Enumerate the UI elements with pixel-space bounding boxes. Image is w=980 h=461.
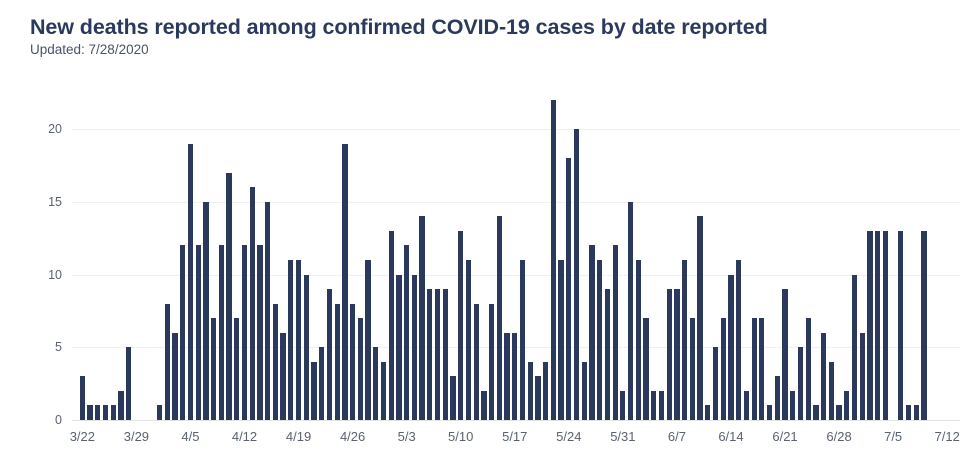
- bar[interactable]: [883, 231, 888, 420]
- bar[interactable]: [690, 318, 695, 420]
- bar[interactable]: [736, 260, 741, 420]
- bar[interactable]: [744, 391, 749, 420]
- bar[interactable]: [443, 289, 448, 420]
- x-axis-tick-label: 7/12: [935, 428, 960, 446]
- bar[interactable]: [304, 275, 309, 421]
- bar[interactable]: [481, 391, 486, 420]
- bar[interactable]: [165, 304, 170, 420]
- bar[interactable]: [512, 333, 517, 420]
- bar[interactable]: [613, 245, 618, 420]
- bar[interactable]: [528, 362, 533, 420]
- bar[interactable]: [396, 275, 401, 421]
- bar[interactable]: [589, 245, 594, 420]
- chart-page: New deaths reported among confirmed COVI…: [0, 0, 980, 461]
- bar[interactable]: [713, 347, 718, 420]
- bar[interactable]: [697, 216, 702, 420]
- bar[interactable]: [273, 304, 278, 420]
- x-axis-tick-label: 7/5: [884, 428, 902, 446]
- y-axis-tick-label: 10: [48, 269, 62, 281]
- bar[interactable]: [813, 405, 818, 420]
- bar[interactable]: [435, 289, 440, 420]
- bar[interactable]: [497, 216, 502, 420]
- x-axis-tick-label: 5/3: [398, 428, 416, 446]
- bar[interactable]: [790, 391, 795, 420]
- bar[interactable]: [558, 260, 563, 420]
- bar[interactable]: [466, 260, 471, 420]
- bar[interactable]: [257, 245, 262, 420]
- x-axis-tick-label: 6/21: [772, 428, 797, 446]
- x-axis-line: [72, 420, 960, 421]
- bar[interactable]: [775, 376, 780, 420]
- bar[interactable]: [682, 260, 687, 420]
- bar[interactable]: [474, 304, 479, 420]
- bar[interactable]: [103, 405, 108, 420]
- bar[interactable]: [311, 362, 316, 420]
- bar[interactable]: [288, 260, 293, 420]
- bar[interactable]: [389, 231, 394, 420]
- bar[interactable]: [597, 260, 602, 420]
- bar[interactable]: [605, 289, 610, 420]
- bar[interactable]: [365, 260, 370, 420]
- bar[interactable]: [427, 289, 432, 420]
- x-axis-labels: 3/223/294/54/124/194/265/35/105/175/245/…: [0, 428, 980, 452]
- bar[interactable]: [867, 231, 872, 420]
- bar[interactable]: [798, 347, 803, 420]
- bar[interactable]: [875, 231, 880, 420]
- bar[interactable]: [280, 333, 285, 420]
- bar[interactable]: [643, 318, 648, 420]
- x-axis-tick-label: 4/26: [340, 428, 365, 446]
- bar[interactable]: [335, 304, 340, 420]
- bar[interactable]: [782, 289, 787, 420]
- bar[interactable]: [504, 333, 509, 420]
- chart-canvas: 05101520 3/223/294/54/124/194/265/35/105…: [0, 0, 980, 461]
- bar[interactable]: [296, 260, 301, 420]
- bar[interactable]: [373, 347, 378, 420]
- bar[interactable]: [489, 304, 494, 420]
- bar[interactable]: [350, 304, 355, 420]
- bar[interactable]: [80, 376, 85, 420]
- bar[interactable]: [582, 362, 587, 420]
- bar[interactable]: [458, 231, 463, 420]
- bar[interactable]: [674, 289, 679, 420]
- bar[interactable]: [551, 100, 556, 420]
- bar[interactable]: [829, 362, 834, 420]
- bar[interactable]: [196, 245, 201, 420]
- bar[interactable]: [327, 289, 332, 420]
- plot-area: [72, 96, 960, 420]
- bar[interactable]: [860, 333, 865, 420]
- bar[interactable]: [636, 260, 641, 420]
- bar[interactable]: [358, 318, 363, 420]
- x-axis-tick-label: 3/22: [70, 428, 95, 446]
- bar[interactable]: [759, 318, 764, 420]
- bar[interactable]: [111, 405, 116, 420]
- bar[interactable]: [242, 245, 247, 420]
- x-axis-tick-label: 5/17: [502, 428, 527, 446]
- bar[interactable]: [342, 144, 347, 420]
- y-axis-tick-label: 15: [48, 196, 62, 208]
- x-axis-tick-label: 5/10: [448, 428, 473, 446]
- bar[interactable]: [721, 318, 726, 420]
- bar[interactable]: [172, 333, 177, 420]
- bar[interactable]: [118, 391, 123, 420]
- bar[interactable]: [157, 405, 162, 420]
- bar[interactable]: [752, 318, 757, 420]
- bar[interactable]: [566, 158, 571, 420]
- bar[interactable]: [319, 347, 324, 420]
- bar[interactable]: [705, 405, 710, 420]
- bar[interactable]: [628, 202, 633, 420]
- y-axis-tick-label: 20: [48, 123, 62, 135]
- y-axis-tick-label: 5: [55, 341, 62, 353]
- x-axis-tick-label: 5/31: [610, 428, 635, 446]
- bar[interactable]: [836, 405, 841, 420]
- bar[interactable]: [381, 362, 386, 420]
- bar[interactable]: [767, 405, 772, 420]
- bar[interactable]: [412, 275, 417, 421]
- bar[interactable]: [535, 376, 540, 420]
- bar[interactable]: [620, 391, 625, 420]
- bar[interactable]: [203, 202, 208, 420]
- x-axis-tick-label: 3/29: [124, 428, 149, 446]
- bar[interactable]: [265, 202, 270, 420]
- y-axis-tick-label: 0: [55, 414, 62, 426]
- bar[interactable]: [87, 405, 92, 420]
- x-axis-tick-label: 4/12: [232, 428, 257, 446]
- bar[interactable]: [821, 333, 826, 420]
- x-axis-tick-label: 6/7: [668, 428, 686, 446]
- bar-series: [72, 129, 960, 420]
- bar[interactable]: [188, 144, 193, 420]
- y-axis-labels: 05101520: [0, 96, 62, 420]
- bar[interactable]: [806, 318, 811, 420]
- bar[interactable]: [728, 275, 733, 421]
- bar[interactable]: [126, 347, 131, 420]
- x-axis-tick-label: 4/19: [286, 428, 311, 446]
- bar[interactable]: [219, 245, 224, 420]
- bar[interactable]: [419, 216, 424, 420]
- bar[interactable]: [234, 318, 239, 420]
- bar[interactable]: [852, 275, 857, 421]
- bar[interactable]: [543, 362, 548, 420]
- bar[interactable]: [450, 376, 455, 420]
- bar[interactable]: [95, 405, 100, 420]
- bar[interactable]: [667, 289, 672, 420]
- bar[interactable]: [898, 231, 903, 420]
- bar[interactable]: [651, 391, 656, 420]
- x-axis-tick-label: 4/5: [181, 428, 199, 446]
- x-axis-tick-label: 6/28: [826, 428, 851, 446]
- bar[interactable]: [906, 405, 911, 420]
- bar[interactable]: [574, 129, 579, 420]
- bar[interactable]: [520, 260, 525, 420]
- x-axis-tick-label: 5/24: [556, 428, 581, 446]
- bar[interactable]: [921, 231, 926, 420]
- bar[interactable]: [914, 405, 919, 420]
- bar[interactable]: [180, 245, 185, 420]
- bar[interactable]: [844, 391, 849, 420]
- bar[interactable]: [250, 187, 255, 420]
- bar[interactable]: [659, 391, 664, 420]
- bar[interactable]: [226, 173, 231, 420]
- bar[interactable]: [211, 318, 216, 420]
- bar[interactable]: [404, 245, 409, 420]
- x-axis-tick-label: 6/14: [718, 428, 743, 446]
